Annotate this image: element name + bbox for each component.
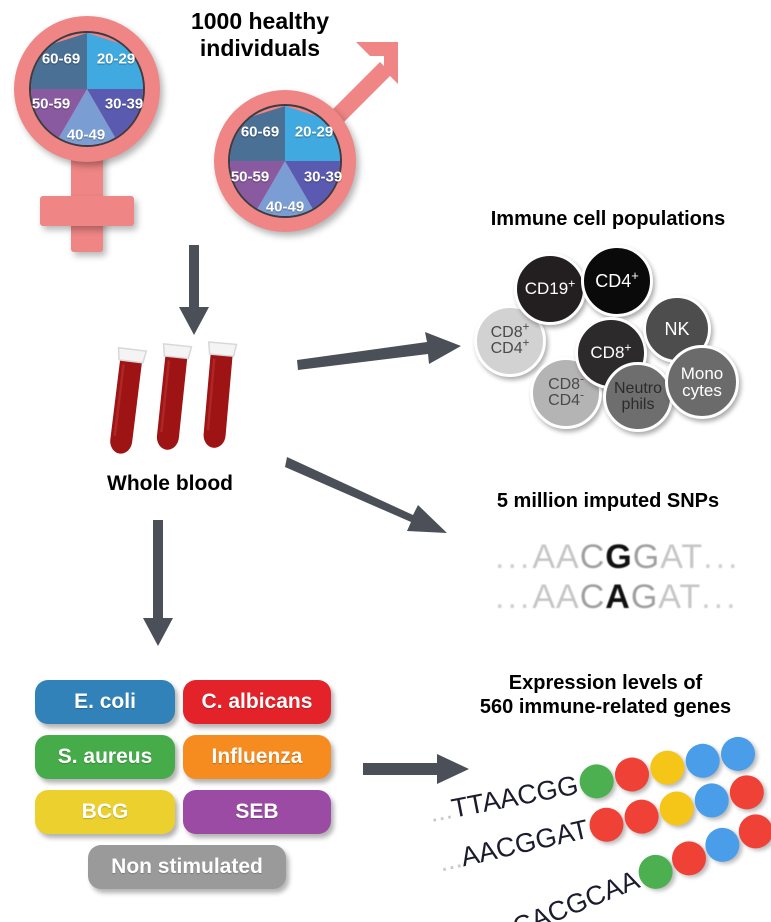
stimulus-label: E. coli [74, 690, 136, 714]
section-title-snps: 5 million imputed SNPs [445, 490, 771, 514]
immune-cell-cd8pos: CD8+ [575, 317, 647, 389]
female-symbol-crossbar [40, 196, 134, 226]
stimulus-box-c-albicans[interactable]: C. albicans [183, 680, 331, 724]
immune-cell-label: CD19+ [525, 280, 576, 297]
male-gender-symbol: 20-29 30-39 40-49 50-59 60-69 [210, 40, 400, 245]
immune-cell-cd19pos: CD19+ [514, 253, 586, 325]
snp-sequence-top: ...AACGGAT... [495, 538, 740, 577]
pie-label-40-49-female: 40-49 [67, 127, 105, 144]
pie-label-60-69-male: 60-69 [241, 124, 279, 141]
section-title-immune-cells: Immune cell populations [445, 208, 771, 232]
immune-cell-label: CD8-CD4- [548, 377, 584, 410]
rna-bead [647, 748, 687, 788]
stimulus-box-non-stimulated[interactable]: Non stimulated [88, 845, 286, 889]
rna-bead [577, 761, 617, 801]
stimulus-label: S. aureus [58, 745, 153, 769]
immune-cell-label: Neutrophils [614, 381, 662, 414]
pie-label-50-59-female: 50-59 [32, 96, 70, 113]
stimulus-label: Non stimulated [111, 855, 263, 879]
snp-prefix-dots: ... [495, 538, 532, 576]
pie-label-40-49-male: 40-49 [266, 199, 304, 216]
pie-label-20-29-female: 20-29 [97, 51, 135, 68]
immune-cell-cd8neg-cd4neg: CD8-CD4- [530, 357, 602, 429]
label-whole-blood: Whole blood [60, 472, 280, 497]
pie-label-60-69-female: 60-69 [42, 51, 80, 68]
immune-cell-label: CD8+ [590, 344, 631, 361]
blood-tube [187, 335, 249, 462]
pie-label-50-59-male: 50-59 [231, 169, 269, 186]
immune-cell-nk: NK [643, 295, 711, 363]
arrow-blood-to-immune-cells [295, 330, 465, 372]
rna-bead [691, 780, 732, 821]
immune-cell-monocytes: Monocytes [665, 345, 739, 419]
female-gender-symbol: 20-29 30-39 40-49 50-59 60-69 [8, 14, 188, 249]
immune-cell-neutrophils: Neutrophils [603, 362, 673, 432]
snp-suffix-dots: ... [703, 538, 740, 576]
figure-canvas: 1000 healthy individuals 20-29 30-39 40-… [0, 0, 771, 922]
rna-strand-sequence: ...CACGCAA [488, 865, 644, 922]
stimulus-label: BCG [82, 800, 129, 824]
rna-bead [683, 741, 723, 781]
immune-cell-label: CD8+CD4+ [491, 325, 530, 358]
rna-bead [612, 755, 652, 795]
stimulus-box-s-aureus[interactable]: S. aureus [35, 735, 175, 779]
stimulus-box-bcg[interactable]: BCG [35, 790, 175, 834]
snp-suffix-dots: ... [701, 578, 738, 616]
arrow-blood-to-snps [285, 455, 455, 545]
snp-sequence-bottom: ...AACAGAT... [495, 578, 739, 617]
snp-bases-bottom: AACAGAT [532, 578, 701, 616]
stimulus-box-seb[interactable]: SEB [183, 790, 331, 834]
immune-cell-label: CD4+ [595, 272, 639, 290]
snp-bases-top: AACGGAT [532, 538, 703, 576]
immune-cell-label: Monocytes [681, 365, 724, 400]
pie-label-20-29-male: 20-29 [295, 124, 333, 141]
immune-cell-cd4pos: CD4+ [581, 245, 653, 317]
stimulus-box-influenza[interactable]: Influenza [183, 735, 331, 779]
section-title-gene-expression: Expression levels of 560 immune-related … [440, 672, 771, 719]
stimulus-label: SEB [235, 800, 278, 824]
rna-bead [586, 804, 627, 845]
immune-cell-label: NK [664, 320, 689, 338]
rna-bead [621, 796, 662, 837]
rna-bead [718, 734, 758, 774]
arrow-blood-to-stimuli [140, 520, 176, 648]
pie-label-30-39-male: 30-39 [304, 169, 342, 186]
blood-tubes-group [95, 335, 255, 460]
snp-prefix-dots: ... [495, 578, 532, 616]
rna-bead [726, 772, 767, 813]
arrow-stimuli-to-expression [363, 752, 471, 786]
stimulus-label: Influenza [211, 745, 302, 769]
stimulus-box-e-coli[interactable]: E. coli [35, 680, 175, 724]
arrow-cohort-to-blood [176, 245, 212, 337]
rna-bead [656, 788, 697, 829]
immune-cell-cd8pos-cd4pos: CD8+CD4+ [474, 305, 546, 377]
stimulus-label: C. albicans [202, 690, 313, 714]
pie-label-30-39-female: 30-39 [105, 96, 143, 113]
